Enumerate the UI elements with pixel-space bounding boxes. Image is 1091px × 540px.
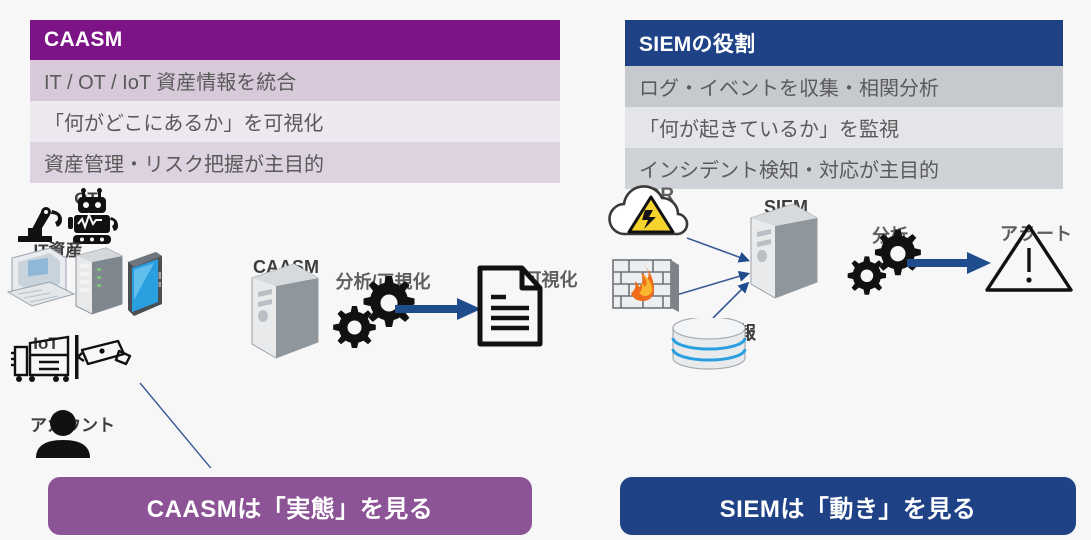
caasm-summary-banner: CAASMは「実態」を見る [48, 477, 532, 535]
caasm-table-row: 「何がどこにあるか」を可視化 [30, 101, 560, 142]
siem-flow-diagram: EDR FW [595, 178, 1091, 428]
caasm-table-row: IT / OT / IoT 資産情報を統合 [30, 60, 560, 101]
caasm-summary-text: CAASMは「実態」を見る [147, 489, 434, 524]
node-siem-process: 分析 [843, 224, 937, 248]
node-caasm-process: 分析/正規化 [328, 272, 438, 294]
siem-table-row: ログ・イベントを収集・相関分析 [625, 66, 1063, 107]
node-caasm-hub: CAASM [236, 256, 336, 278]
node-it-assets: IT資産 [4, 240, 164, 261]
caasm-flow-diagram: OT [0, 178, 600, 468]
node-account: アカウント [18, 410, 128, 436]
caasm-table-row: 資産管理・リスク把握が主目的 [30, 142, 560, 183]
node-fw: FW [607, 256, 693, 279]
node-credentials: 認証情報 [667, 318, 773, 345]
siem-summary-banner: SIEMは「動き」を見る [620, 477, 1076, 535]
node-edr: EDR [601, 184, 707, 207]
siem-comparison-table: SIEMの役割 ログ・イベントを収集・相関分析 「何が起きているか」を監視 イン… [625, 20, 1063, 189]
node-ot: OT [12, 188, 132, 209]
node-alert: アラート [983, 220, 1089, 246]
siem-table-header: SIEMの役割 [625, 20, 1063, 66]
siem-summary-text: SIEMは「動き」を見る [720, 489, 977, 524]
caasm-table-header: CAASM [30, 20, 560, 60]
caasm-comparison-table: CAASM IT / OT / IoT 資産情報を統合 「何がどこにあるか」を可… [30, 20, 560, 183]
node-siem-hub: SIEM [735, 196, 837, 218]
node-caasm-output: 台帳/可視化 [470, 264, 590, 292]
siem-table-row: 「何が起きているか」を監視 [625, 107, 1063, 148]
node-iot: IoT [6, 333, 136, 354]
